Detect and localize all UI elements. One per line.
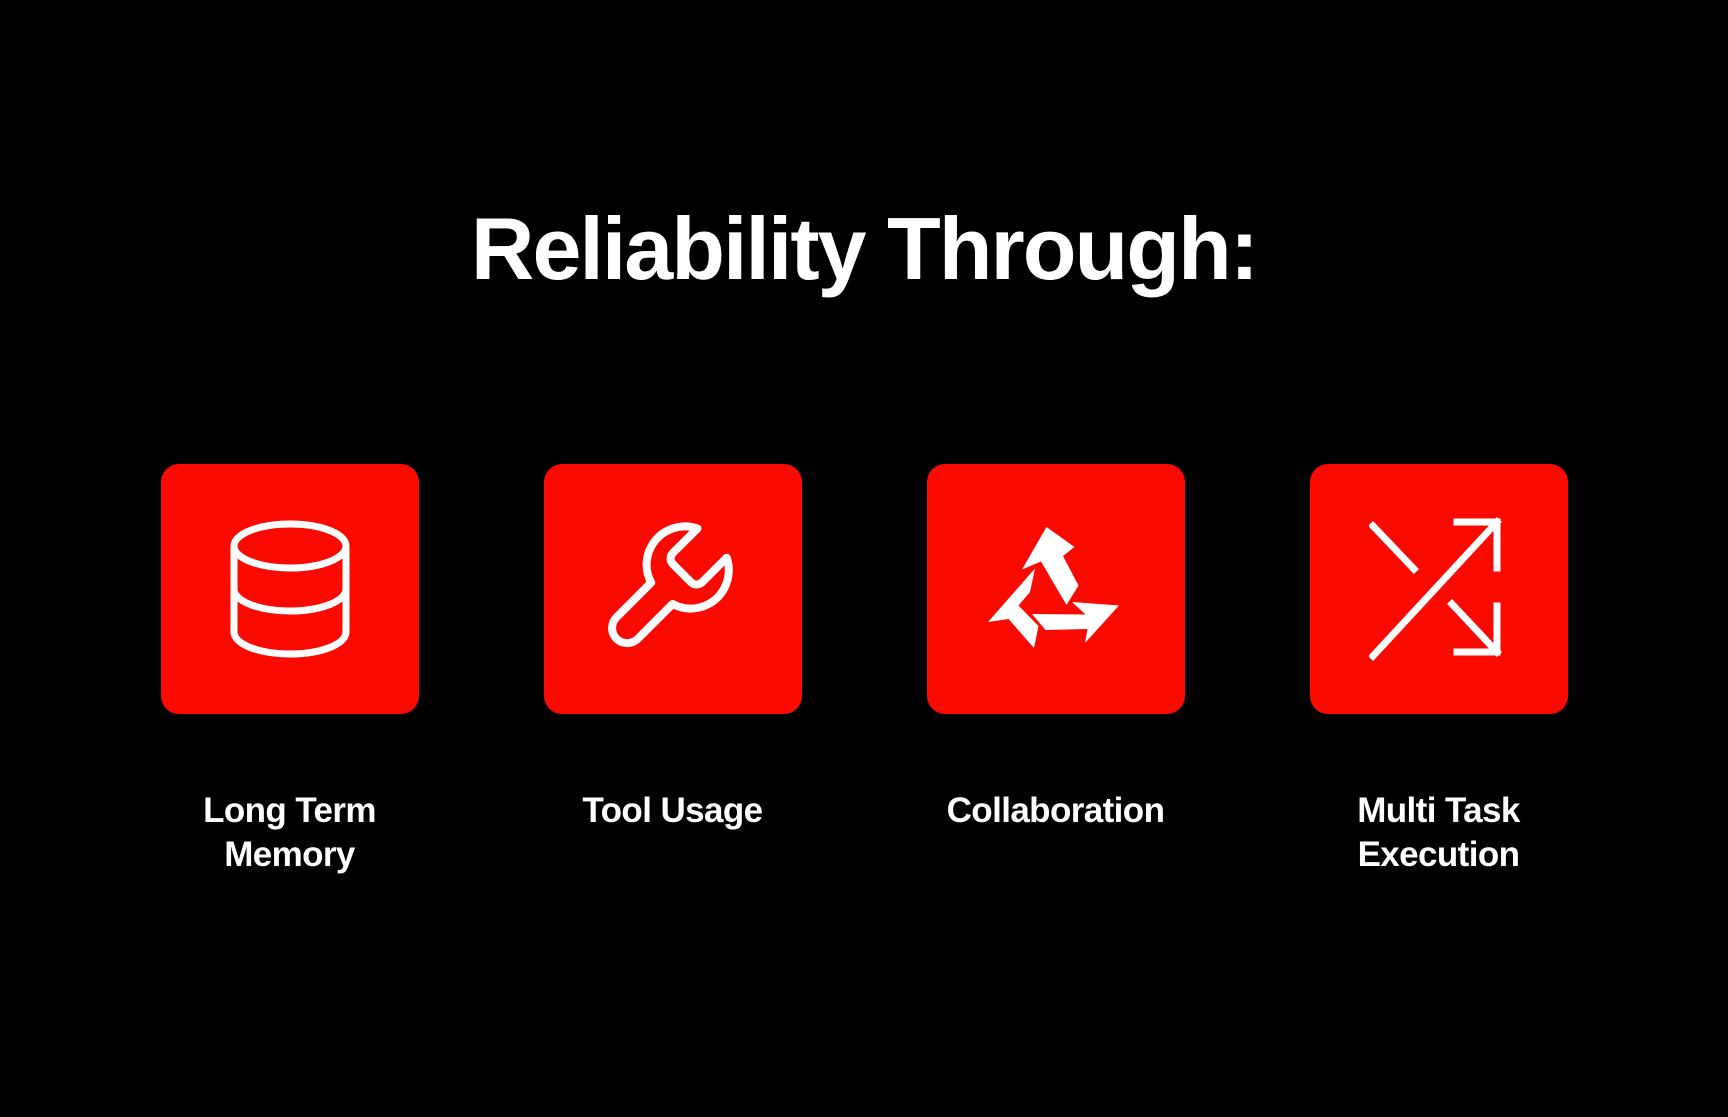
feature-card-tool-usage[interactable]: Tool Usage xyxy=(544,464,802,833)
feature-card-multi-task-execution[interactable]: Multi Task Execution xyxy=(1310,464,1568,877)
feature-card-label: Long Term Memory xyxy=(203,789,376,877)
feature-card-label: Collaboration xyxy=(947,789,1165,833)
icon-tile xyxy=(161,464,419,714)
recycle-arrows-icon xyxy=(986,525,1126,653)
shuffle-arrows-icon xyxy=(1369,516,1509,662)
wrench-icon xyxy=(602,518,744,660)
feature-card-collaboration[interactable]: Collaboration xyxy=(927,464,1185,833)
feature-card-row: Long Term Memory Tool Usage xyxy=(0,464,1728,877)
feature-card-label: Multi Task Execution xyxy=(1357,789,1520,877)
icon-tile xyxy=(1310,464,1568,714)
database-icon xyxy=(225,520,355,658)
feature-card-long-term-memory[interactable]: Long Term Memory xyxy=(161,464,419,877)
icon-tile xyxy=(544,464,802,714)
slide-canvas: Reliability Through: Long Term Memory xyxy=(0,0,1728,1117)
page-title: Reliability Through: xyxy=(0,205,1728,293)
icon-tile xyxy=(927,464,1185,714)
feature-card-label: Tool Usage xyxy=(582,789,762,833)
